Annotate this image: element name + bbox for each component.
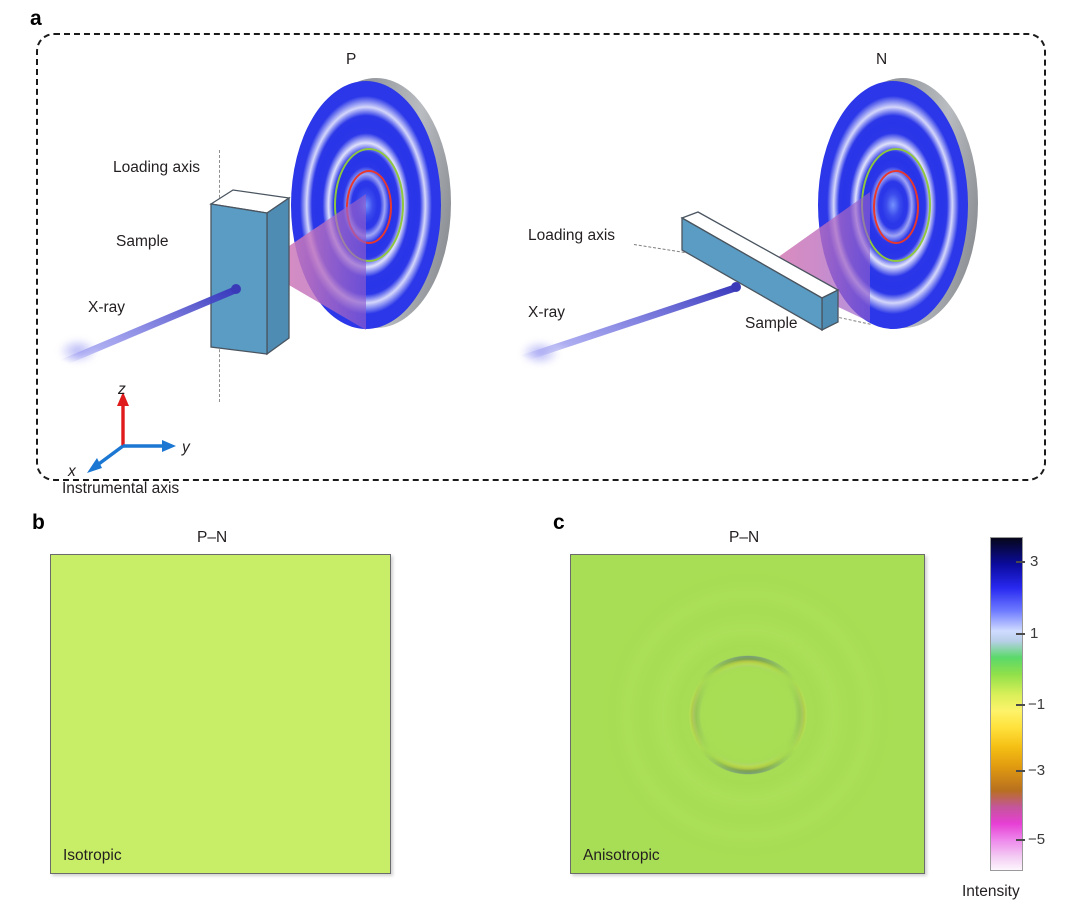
- colorbar-tick-label-4: −5: [1028, 832, 1045, 847]
- instrumental-axis-caption: Instrumental axis: [62, 481, 179, 497]
- loading-axis-label-n: Loading axis: [528, 228, 615, 244]
- colorbar-tick-label-0: 3: [1030, 554, 1038, 569]
- colorbar-tick-label-2: −1: [1028, 697, 1045, 712]
- detector-label-n: N: [876, 52, 887, 68]
- colorbar-tick-label-3: −3: [1028, 763, 1045, 778]
- figure-root: a P Loading axis Sample: [0, 0, 1069, 916]
- sample-label-p: Sample: [116, 234, 169, 250]
- axes-triad: [78, 378, 198, 458]
- colorbar-tick-3: [1016, 770, 1025, 772]
- sample-label-n: Sample: [745, 316, 798, 332]
- panel-c-map[interactable]: Anisotropic: [570, 554, 925, 874]
- xray-label-n: X-ray: [528, 305, 565, 321]
- panel-b-map[interactable]: Isotropic: [50, 554, 391, 874]
- colorbar-tick-1: [1016, 633, 1025, 635]
- axis-label-z: z: [118, 382, 126, 398]
- colorbar-tick-0: [1016, 561, 1025, 563]
- panel-letter-c: c: [553, 512, 565, 533]
- panel-letter-b: b: [32, 512, 45, 533]
- colorbar-title: Intensity: [962, 884, 1020, 900]
- xray-beam-p: [60, 280, 250, 370]
- panel-c-title: P–N: [729, 530, 759, 546]
- panel-b-title: P–N: [197, 530, 227, 546]
- axis-label-x: x: [68, 464, 76, 480]
- xray-label-p: X-ray: [88, 300, 125, 316]
- panel-b-caption: Isotropic: [63, 848, 122, 864]
- axis-label-y: y: [182, 440, 190, 456]
- colorbar-tick-4: [1016, 839, 1025, 841]
- panel-c-caption: Anisotropic: [583, 848, 660, 864]
- colorbar-tick-2: [1016, 704, 1025, 706]
- panel-c-pattern: [571, 555, 925, 874]
- loading-axis-label-p: Loading axis: [113, 160, 200, 176]
- colorbar-tick-label-1: 1: [1030, 626, 1038, 641]
- panel-letter-a: a: [30, 8, 42, 29]
- detector-label-p: P: [346, 52, 356, 68]
